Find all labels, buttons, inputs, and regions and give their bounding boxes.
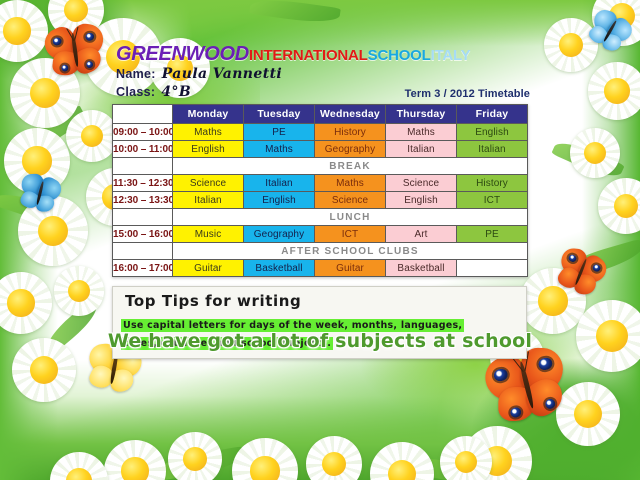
lesson-cell: History bbox=[457, 175, 528, 192]
class-value: 4°B bbox=[161, 84, 191, 100]
lesson-cell: ICT bbox=[315, 226, 386, 243]
lesson-cell: Geography bbox=[315, 141, 386, 158]
daisy-flower-icon bbox=[588, 62, 640, 120]
lesson-cell: Maths bbox=[386, 124, 457, 141]
lesson-cell: Guitar bbox=[315, 260, 386, 277]
lesson-cell: English bbox=[457, 124, 528, 141]
lesson-cell: Italian bbox=[457, 141, 528, 158]
lesson-cell-empty bbox=[457, 260, 528, 277]
time-slot-label: 10:00 – 11:00 bbox=[113, 141, 173, 158]
worksheet: GREENWOODINTERNATIONALSCHOOLITALY Name:P… bbox=[112, 44, 532, 359]
banner-row-spacer bbox=[113, 243, 173, 260]
daisy-flower-icon bbox=[370, 442, 434, 480]
day-header-monday: Monday bbox=[173, 105, 244, 124]
lesson-cell: Art bbox=[386, 226, 457, 243]
timetable-corner-cell bbox=[113, 105, 173, 124]
banner-row-spacer bbox=[113, 158, 173, 175]
after-school-clubs-banner: AFTER SCHOOL CLUBS bbox=[173, 243, 528, 260]
lesson-cell: Basketball bbox=[244, 260, 315, 277]
class-label: Class: bbox=[116, 85, 155, 99]
lesson-cell: Science bbox=[386, 175, 457, 192]
daisy-flower-icon bbox=[232, 438, 298, 480]
lunch-banner: LUNCH bbox=[173, 209, 528, 226]
lesson-cell: PE bbox=[457, 226, 528, 243]
lesson-cell: Science bbox=[315, 192, 386, 209]
daisy-flower-icon bbox=[0, 272, 52, 334]
student-name-row: Name:Paula Vannetti bbox=[116, 66, 532, 84]
day-header-wednesday: Wednesday bbox=[315, 105, 386, 124]
name-label: Name: bbox=[116, 67, 156, 81]
daisy-flower-icon bbox=[0, 0, 48, 62]
lesson-cell: Maths bbox=[244, 141, 315, 158]
lesson-cell: Guitar bbox=[173, 260, 244, 277]
timetable-body: 09:00 – 10:00 Maths PE History Maths Eng… bbox=[113, 124, 528, 277]
time-slot-label: 15:00 – 16:00 bbox=[113, 226, 173, 243]
lesson-cell: English bbox=[386, 192, 457, 209]
daisy-flower-icon bbox=[570, 128, 620, 178]
daisy-flower-icon bbox=[104, 440, 166, 480]
slide-canvas: GREENWOODINTERNATIONALSCHOOLITALY Name:P… bbox=[0, 0, 640, 480]
butterfly-icon bbox=[43, 22, 107, 78]
time-slot-label: 11:30 – 12:30 bbox=[113, 175, 173, 192]
lesson-cell: Maths bbox=[173, 124, 244, 141]
daisy-flower-icon bbox=[306, 436, 362, 480]
daisy-flower-icon bbox=[50, 452, 108, 480]
logo-word-international: INTERNATIONAL bbox=[249, 47, 368, 64]
top-tips-heading: Top Tips for writing bbox=[125, 292, 518, 310]
school-logo: GREENWOODINTERNATIONALSCHOOLITALY bbox=[116, 44, 532, 65]
timetable-row: 12:30 – 13:30 Italian English Science En… bbox=[113, 192, 528, 209]
lesson-cell: Italian bbox=[173, 192, 244, 209]
break-banner: BREAK bbox=[173, 158, 528, 175]
daisy-flower-icon bbox=[66, 110, 118, 162]
day-header-friday: Friday bbox=[457, 105, 528, 124]
timetable-row: 10:00 – 11:00 English Maths Geography It… bbox=[113, 141, 528, 158]
timetable-banner-row: BREAK bbox=[113, 158, 528, 175]
timetable-banner-row: AFTER SCHOOL CLUBS bbox=[113, 243, 528, 260]
lesson-cell: Science bbox=[173, 175, 244, 192]
lesson-cell: Geography bbox=[244, 226, 315, 243]
slide-caption: We have got a lot of subjects at school bbox=[0, 330, 640, 352]
lesson-cell: Basketball bbox=[386, 260, 457, 277]
lesson-cell: ICT bbox=[457, 192, 528, 209]
daisy-flower-icon bbox=[440, 436, 492, 480]
logo-word-school: SCHOOL bbox=[368, 47, 431, 64]
logo-word-italy: ITALY bbox=[431, 47, 471, 64]
timetable: Monday Tuesday Wednesday Thursday Friday… bbox=[112, 104, 528, 277]
timetable-header-row: Monday Tuesday Wednesday Thursday Friday bbox=[113, 105, 528, 124]
lesson-cell: History bbox=[315, 124, 386, 141]
lesson-cell: Italian bbox=[386, 141, 457, 158]
name-value: Paula Vannetti bbox=[162, 66, 282, 82]
time-slot-label: 09:00 – 10:00 bbox=[113, 124, 173, 141]
day-header-thursday: Thursday bbox=[386, 105, 457, 124]
term-title: Term 3 / 2012 Timetable bbox=[405, 88, 530, 100]
lesson-cell: Italian bbox=[244, 175, 315, 192]
lesson-cell: English bbox=[244, 192, 315, 209]
lesson-cell: Maths bbox=[315, 175, 386, 192]
timetable-row: 15:00 – 16:00 Music Geography ICT Art PE bbox=[113, 226, 528, 243]
banner-row-spacer bbox=[113, 209, 173, 226]
timetable-row: 16:00 – 17:00 Guitar Basketball Guitar B… bbox=[113, 260, 528, 277]
time-slot-label: 12:30 – 13:30 bbox=[113, 192, 173, 209]
daisy-flower-icon bbox=[598, 178, 640, 234]
student-identity-block: Name:Paula Vannetti Class:4°B Term 3 / 2… bbox=[116, 66, 532, 101]
logo-word-greenwood: GREENWOOD bbox=[116, 43, 249, 65]
lesson-cell: English bbox=[173, 141, 244, 158]
lesson-cell: PE bbox=[244, 124, 315, 141]
day-header-tuesday: Tuesday bbox=[244, 105, 315, 124]
daisy-flower-icon bbox=[54, 266, 104, 316]
timetable-row: 11:30 – 12:30 Science Italian Maths Scie… bbox=[113, 175, 528, 192]
time-slot-label: 16:00 – 17:00 bbox=[113, 260, 173, 277]
timetable-row: 09:00 – 10:00 Maths PE History Maths Eng… bbox=[113, 124, 528, 141]
daisy-flower-icon bbox=[168, 432, 222, 480]
timetable-banner-row: LUNCH bbox=[113, 209, 528, 226]
lesson-cell: Music bbox=[173, 226, 244, 243]
